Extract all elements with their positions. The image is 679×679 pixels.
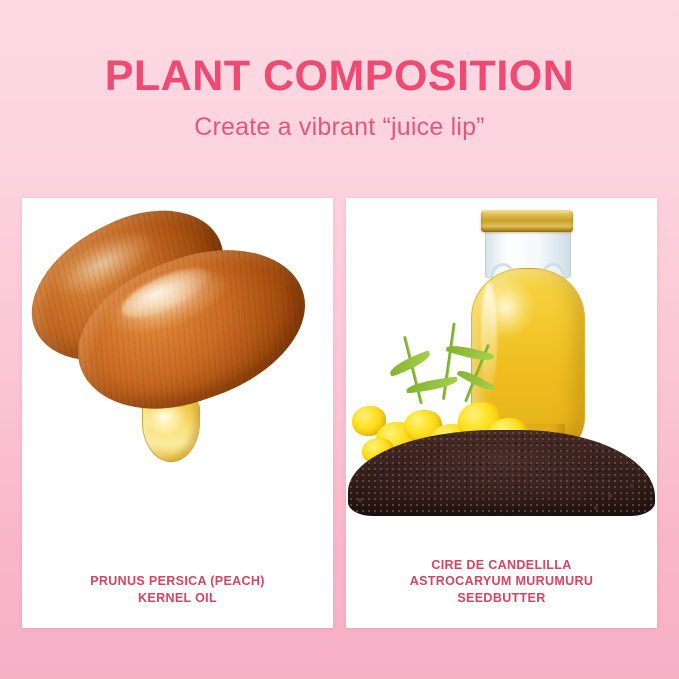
loose-seed bbox=[594, 506, 598, 510]
page-title: PLANT COMPOSITION bbox=[0, 0, 679, 99]
caption-line: PRUNUS PERSICA (PEACH) bbox=[32, 573, 323, 590]
candelilla-murumuru-caption: CIRE DE CANDELILLA ASTROCARYUM MURUMURU … bbox=[346, 557, 657, 629]
ingredient-card-row: PRUNUS PERSICA (PEACH) KERNEL OIL bbox=[22, 198, 657, 628]
jar-gold-lid bbox=[481, 210, 573, 232]
plant-composition-poster: PLANT COMPOSITION Create a vibrant “juic… bbox=[0, 0, 679, 679]
caption-line: CIRE DE CANDELILLA bbox=[356, 557, 647, 574]
poster-header: PLANT COMPOSITION Create a vibrant “juic… bbox=[0, 0, 679, 141]
flower-stem bbox=[442, 323, 456, 401]
loose-seed bbox=[608, 494, 613, 499]
ingredient-card-candelilla-murumuru: CIRE DE CANDELILLA ASTROCARYUM MURUMURU … bbox=[346, 198, 657, 628]
peach-kernel-oil-caption: PRUNUS PERSICA (PEACH) KERNEL OIL bbox=[22, 573, 333, 628]
loose-seed bbox=[358, 498, 363, 503]
ingredient-card-peach-kernel-oil: PRUNUS PERSICA (PEACH) KERNEL OIL bbox=[22, 198, 333, 628]
candelilla-murumuru-image bbox=[346, 198, 657, 557]
peach-kernel-oil-image bbox=[22, 198, 333, 573]
caption-line: KERNEL OIL bbox=[32, 590, 323, 607]
oil-jar-illustration bbox=[346, 198, 657, 528]
loose-seed bbox=[630, 484, 634, 488]
caption-line: ASTROCARYUM MURUMURU bbox=[356, 573, 647, 590]
almond-kernels-illustration bbox=[22, 198, 333, 528]
caption-line: SEEDBUTTER bbox=[356, 590, 647, 607]
page-subtitle: Create a vibrant “juice lip” bbox=[0, 99, 679, 141]
